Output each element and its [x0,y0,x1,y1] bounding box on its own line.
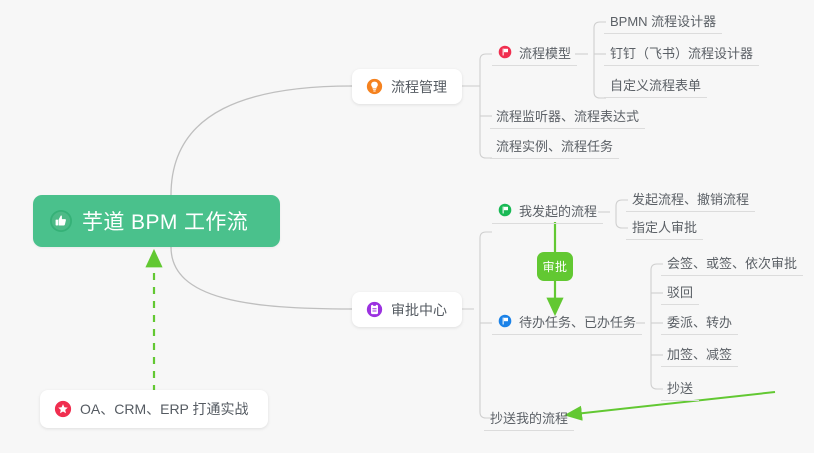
leaf-label-add-remove-sign: 加签、减签 [667,344,732,363]
node-label-todo-done-tasks: 待办任务、已办任务 [519,312,636,331]
branch-node-process-management[interactable]: 流程管理 [352,69,462,104]
flag-icon [498,45,512,59]
flag-icon [498,203,512,217]
leaf-label-countersign: 会签、或签、依次审批 [667,253,797,272]
lightbulb-icon [366,78,383,95]
leaf-label-bpmn-designer: BPMN 流程设计器 [610,11,716,30]
leaf-process-instance[interactable]: 流程实例、流程任务 [490,135,619,159]
leaf-label-custom-form: 自定义流程表单 [610,75,701,94]
flag-icon [498,314,512,328]
node-label-process-model: 流程模型 [519,43,571,62]
leaf-label-cc: 抄送 [667,378,693,397]
node-todo-done-tasks[interactable]: 待办任务、已办任务 [492,311,642,335]
leaf-assignee-approval[interactable]: 指定人审批 [626,216,703,240]
branch-label-approval-center: 审批中心 [391,300,447,320]
clipboard-icon [366,301,383,318]
leaf-delegate-transfer[interactable]: 委派、转办 [661,311,738,335]
star-icon [54,400,72,418]
mindmap-canvas: 芋道 BPM 工作流 流程管理 流程模型 BPMN 流程设计器 钉钉（飞书 [0,0,814,453]
wire-root-to-approval-center [171,247,352,309]
leaf-dingtalk-designer[interactable]: 钉钉（飞书）流程设计器 [604,42,759,66]
leaf-label-process-instance: 流程实例、流程任务 [496,136,613,155]
wire-root-to-process-management [171,86,352,195]
leaf-cc[interactable]: 抄送 [661,377,699,401]
root-label: 芋道 BPM 工作流 [82,206,248,236]
footer-node-label: OA、CRM、ERP 打通实战 [80,399,249,419]
node-process-model[interactable]: 流程模型 [492,42,577,66]
branch-node-approval-center[interactable]: 审批中心 [352,292,462,327]
leaf-label-assignee-approval: 指定人审批 [632,217,697,236]
thumbs-up-icon [49,209,73,233]
leaf-label-dingtalk-designer: 钉钉（飞书）流程设计器 [610,43,753,62]
wire-ac-elbow-mystarted [480,232,492,238]
branch-label-process-management: 流程管理 [391,77,447,97]
leaf-initiate-cancel[interactable]: 发起流程、撤销流程 [626,188,755,212]
leaf-cc-to-me[interactable]: 抄送我的流程 [484,407,574,431]
wire-pm-elbow-model [480,54,492,60]
root-node[interactable]: 芋道 BPM 工作流 [33,195,280,247]
leaf-label-cc-to-me: 抄送我的流程 [490,408,568,427]
footer-node-oa-crm-erp[interactable]: OA、CRM、ERP 打通实战 [40,390,268,428]
leaf-bpmn-designer[interactable]: BPMN 流程设计器 [604,10,722,34]
approval-badge: 审批 [537,252,573,281]
leaf-process-listener[interactable]: 流程监听器、流程表达式 [490,105,645,129]
leaf-label-delegate-transfer: 委派、转办 [667,312,732,331]
node-my-started-process[interactable]: 我发起的流程 [492,200,603,224]
leaf-add-remove-sign[interactable]: 加签、减签 [661,343,738,367]
leaf-label-reject: 驳回 [667,282,693,301]
leaf-label-initiate-cancel: 发起流程、撤销流程 [632,189,749,208]
leaf-label-process-listener: 流程监听器、流程表达式 [496,106,639,125]
approval-badge-label: 审批 [542,258,567,275]
leaf-reject[interactable]: 驳回 [661,281,699,305]
leaf-custom-form[interactable]: 自定义流程表单 [604,74,707,98]
node-label-my-started-process: 我发起的流程 [519,201,597,220]
leaf-countersign[interactable]: 会签、或签、依次审批 [661,252,803,276]
